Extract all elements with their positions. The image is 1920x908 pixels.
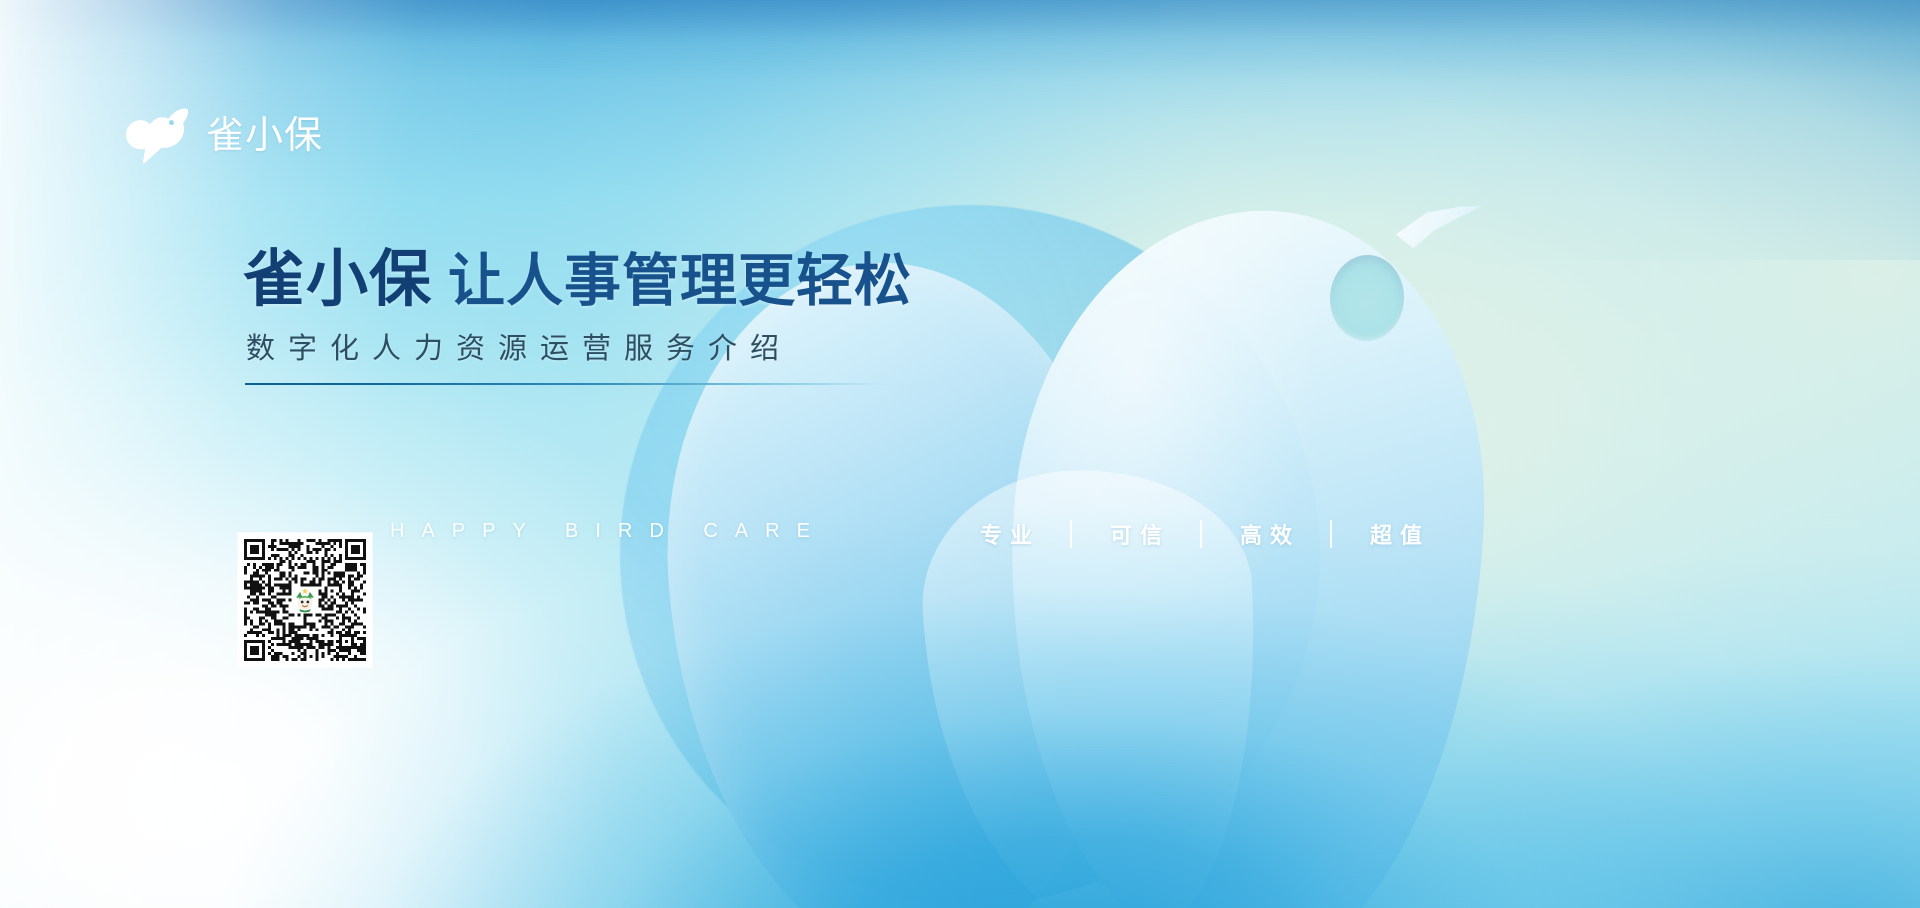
value-separator-3 — [1330, 520, 1332, 548]
cover-slide: 雀小保 雀小保让人事管理更轻松 数字化人力资源运营服务介绍 — [0, 0, 1920, 908]
bird-logo-icon — [126, 105, 192, 165]
title-divider — [245, 383, 965, 385]
value-item-1: 专业 — [978, 518, 1042, 550]
page-title: 雀小保让人事管理更轻松 — [243, 248, 912, 310]
headline-tagline: 让人事管理更轻松 — [448, 248, 912, 314]
mascot-icon — [292, 587, 318, 613]
page-subtitle: 数字化人力资源运营服务介绍 — [246, 325, 792, 367]
content-layer: 雀小保 雀小保让人事管理更轻松 数字化人力资源运营服务介绍 — [0, 0, 1920, 908]
value-props: 专业 可信 高效 超值 — [978, 518, 1432, 550]
value-item-3: 高效 — [1238, 518, 1302, 550]
brand-wordmark: 雀小保 — [206, 116, 323, 154]
value-separator-1 — [1070, 520, 1072, 548]
value-item-2: 可信 — [1108, 518, 1172, 550]
brand-logo[interactable]: 雀小保 — [126, 102, 323, 168]
headline-brand: 雀小保 — [243, 242, 432, 315]
value-item-4: 超值 — [1368, 518, 1432, 550]
wechat-qr-code[interactable] — [238, 533, 372, 667]
value-separator-2 — [1200, 520, 1202, 548]
english-slogan: HAPPY BIRD CARE — [390, 520, 827, 543]
